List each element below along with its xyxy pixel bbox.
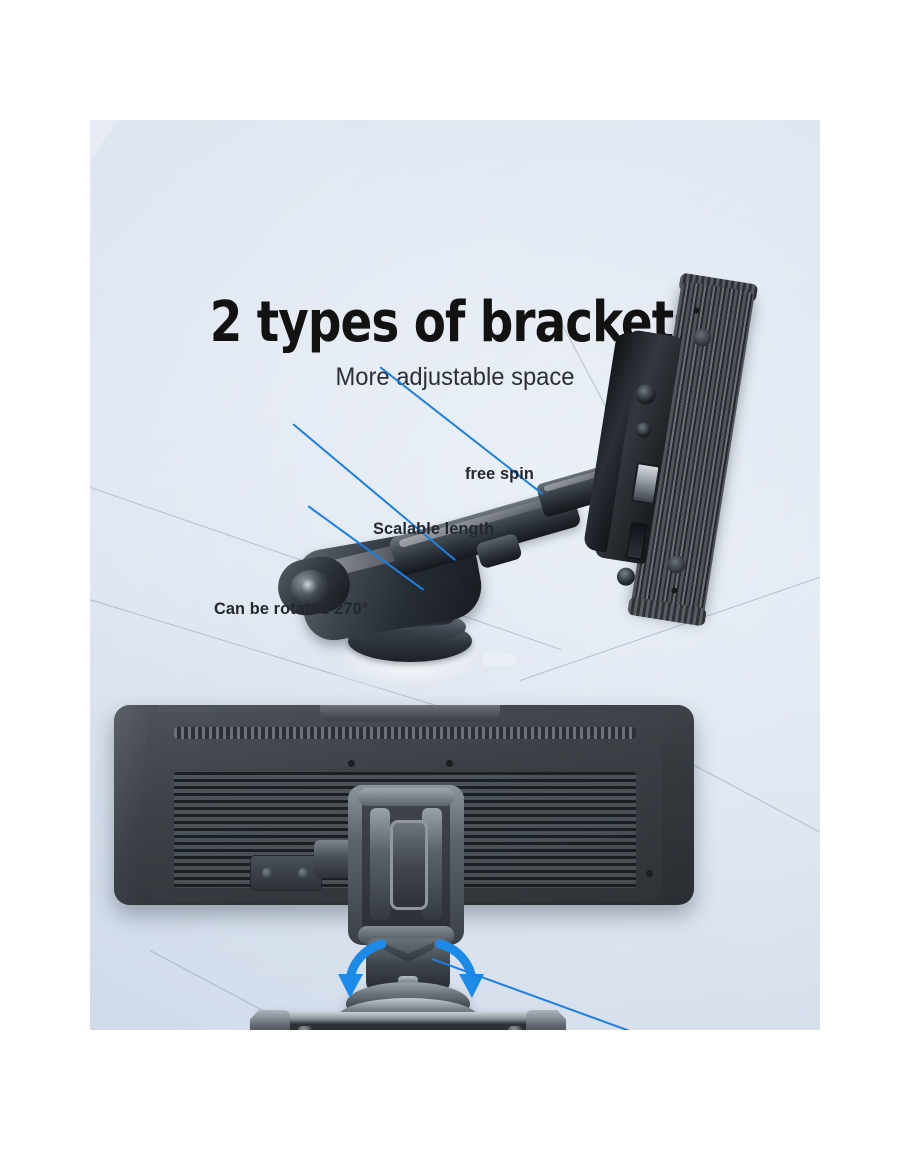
indicator-dot	[446, 760, 453, 767]
product-image-panel: 2 types of brackets More adjustable spac…	[90, 120, 820, 1030]
callout-free-spin: free spin	[465, 463, 534, 485]
folding-bracket-pad	[390, 820, 428, 910]
dash-plate-end-left	[250, 1010, 290, 1030]
bottom-product-assembly	[90, 120, 820, 1030]
indicator-dot	[348, 760, 355, 767]
screw-icon	[262, 868, 272, 878]
dash-plate-end-right	[526, 1010, 566, 1030]
folding-bracket-rail-left	[370, 808, 390, 920]
monitor-top-vent-bar	[174, 727, 636, 739]
indicator-dot	[646, 870, 653, 877]
flip-arrow-left-icon	[336, 938, 396, 1002]
screenshot-root: 2 types of brackets More adjustable spac…	[0, 0, 910, 1155]
screw-icon	[508, 1026, 522, 1030]
callout-rotate-270: Can be rotated 270°	[214, 598, 368, 620]
rear-connector-plate	[250, 855, 322, 891]
callout-scalable-length: Scalable length	[373, 518, 494, 540]
screw-icon	[298, 868, 308, 878]
flip-arrow-right-icon	[426, 938, 486, 1002]
monitor-rear-top-notch	[320, 705, 500, 721]
folding-bracket-top-clamp	[358, 788, 454, 806]
screw-icon	[298, 1026, 312, 1030]
